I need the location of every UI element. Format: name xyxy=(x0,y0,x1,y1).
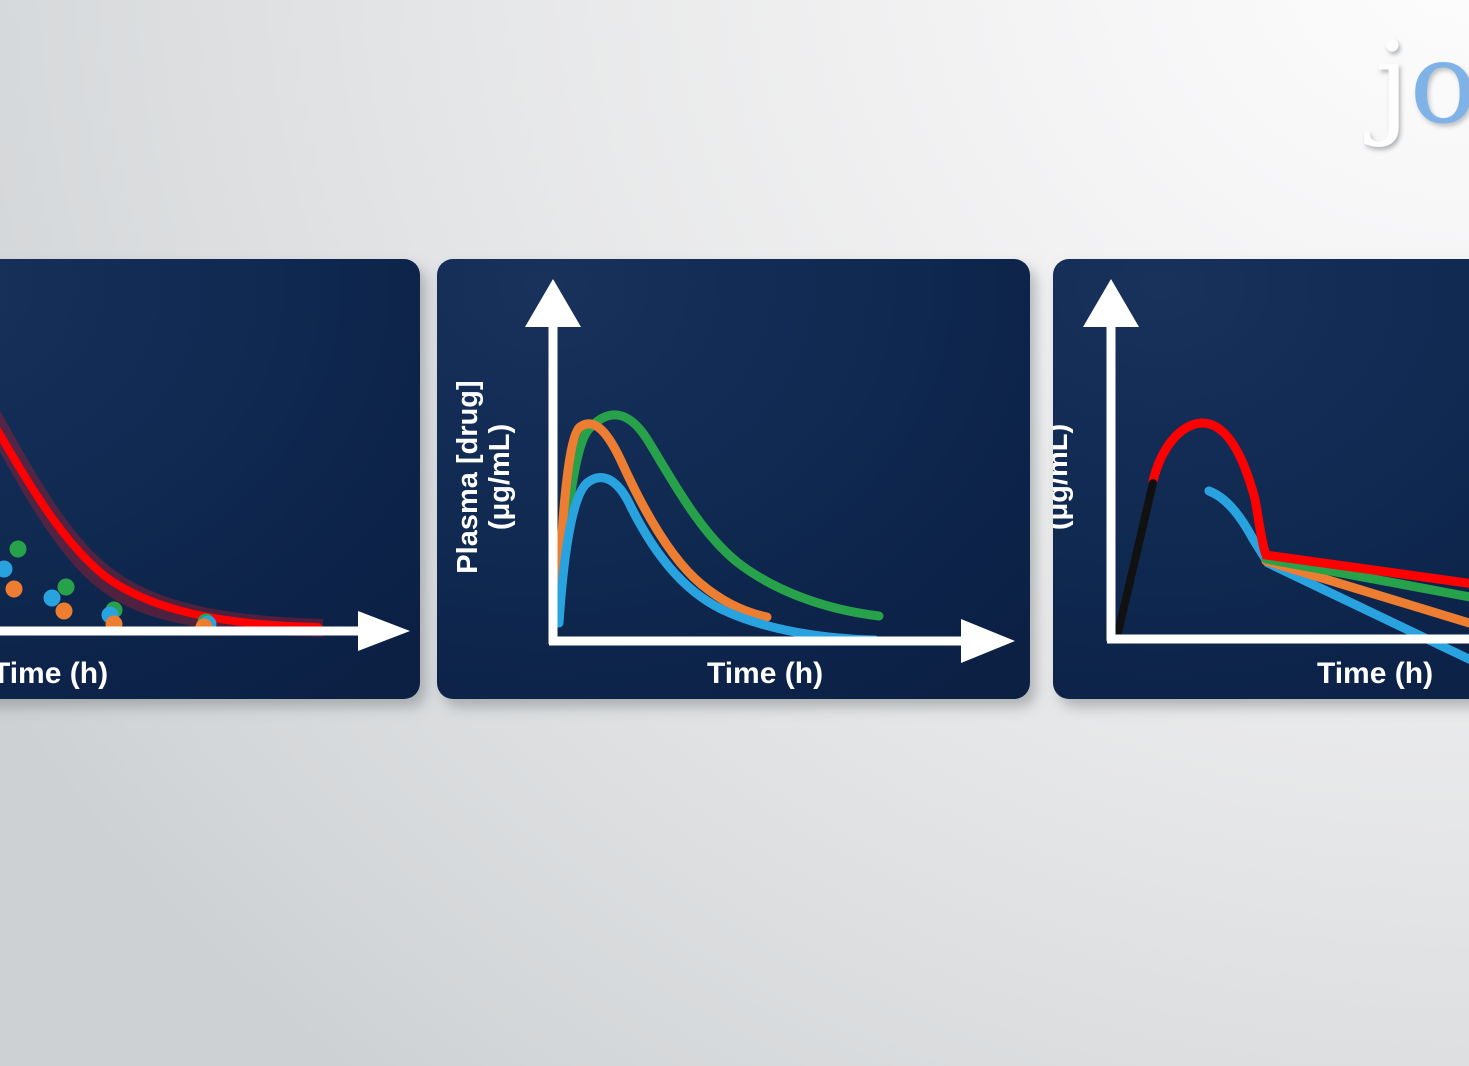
chart-card-divergent-elimination[interactable]: Plasma [drug] (μg/mL) Time (h) xyxy=(1053,259,1469,699)
series-line-green-panel-2 xyxy=(559,415,879,621)
y-axis-label-line2-panel-3: (μg/mL) xyxy=(1053,424,1074,530)
series-line-black-panel-3 xyxy=(1117,483,1153,637)
chart-card-observed-data[interactable]: Time (h) xyxy=(0,259,420,699)
y-axis-label-line1-panel-2: Plasma [drug] xyxy=(452,380,484,573)
chart-card-formulation-profiles[interactable]: Plasma [drug] (μg/mL) Time (h) xyxy=(437,259,1030,699)
x-axis-arrow-panel-1 xyxy=(358,611,410,651)
confidence-band xyxy=(0,321,323,637)
logo-letter-j: j xyxy=(1375,28,1408,140)
y-axis-arrow-panel-3 xyxy=(1083,279,1139,327)
y-axis-label-line2-panel-2: (μg/mL) xyxy=(484,424,516,530)
x-axis-label-panel-3: Time (h) xyxy=(1317,657,1433,690)
line-chart-svg-panel-3: Plasma [drug] (μg/mL) Time (h) xyxy=(1053,259,1469,699)
model-fit-line xyxy=(0,341,318,627)
x-axis-arrow-panel-2 xyxy=(961,619,1015,663)
x-axis-label-panel-2: Time (h) xyxy=(707,657,823,690)
y-axis-arrow-panel-2 xyxy=(525,279,581,327)
y-axis-label-panel-3: Plasma [drug] (μg/mL) xyxy=(1053,380,1074,573)
scatter-chart-svg: Time (h) xyxy=(0,259,420,699)
logo-letter-o: o xyxy=(1410,28,1469,140)
x-axis-label-panel-1: Time (h) xyxy=(0,657,108,690)
brand-logo[interactable]: j o xyxy=(1375,28,1469,140)
y-axis-label-panel-2: Plasma [drug] (μg/mL) xyxy=(452,380,516,573)
page-root: j o xyxy=(0,0,1469,1066)
line-chart-svg-panel-2: Plasma [drug] (μg/mL) Time (h) xyxy=(437,259,1030,699)
series-line-blue-panel-2 xyxy=(559,478,875,640)
series-line-orange-panel-2 xyxy=(557,424,767,621)
